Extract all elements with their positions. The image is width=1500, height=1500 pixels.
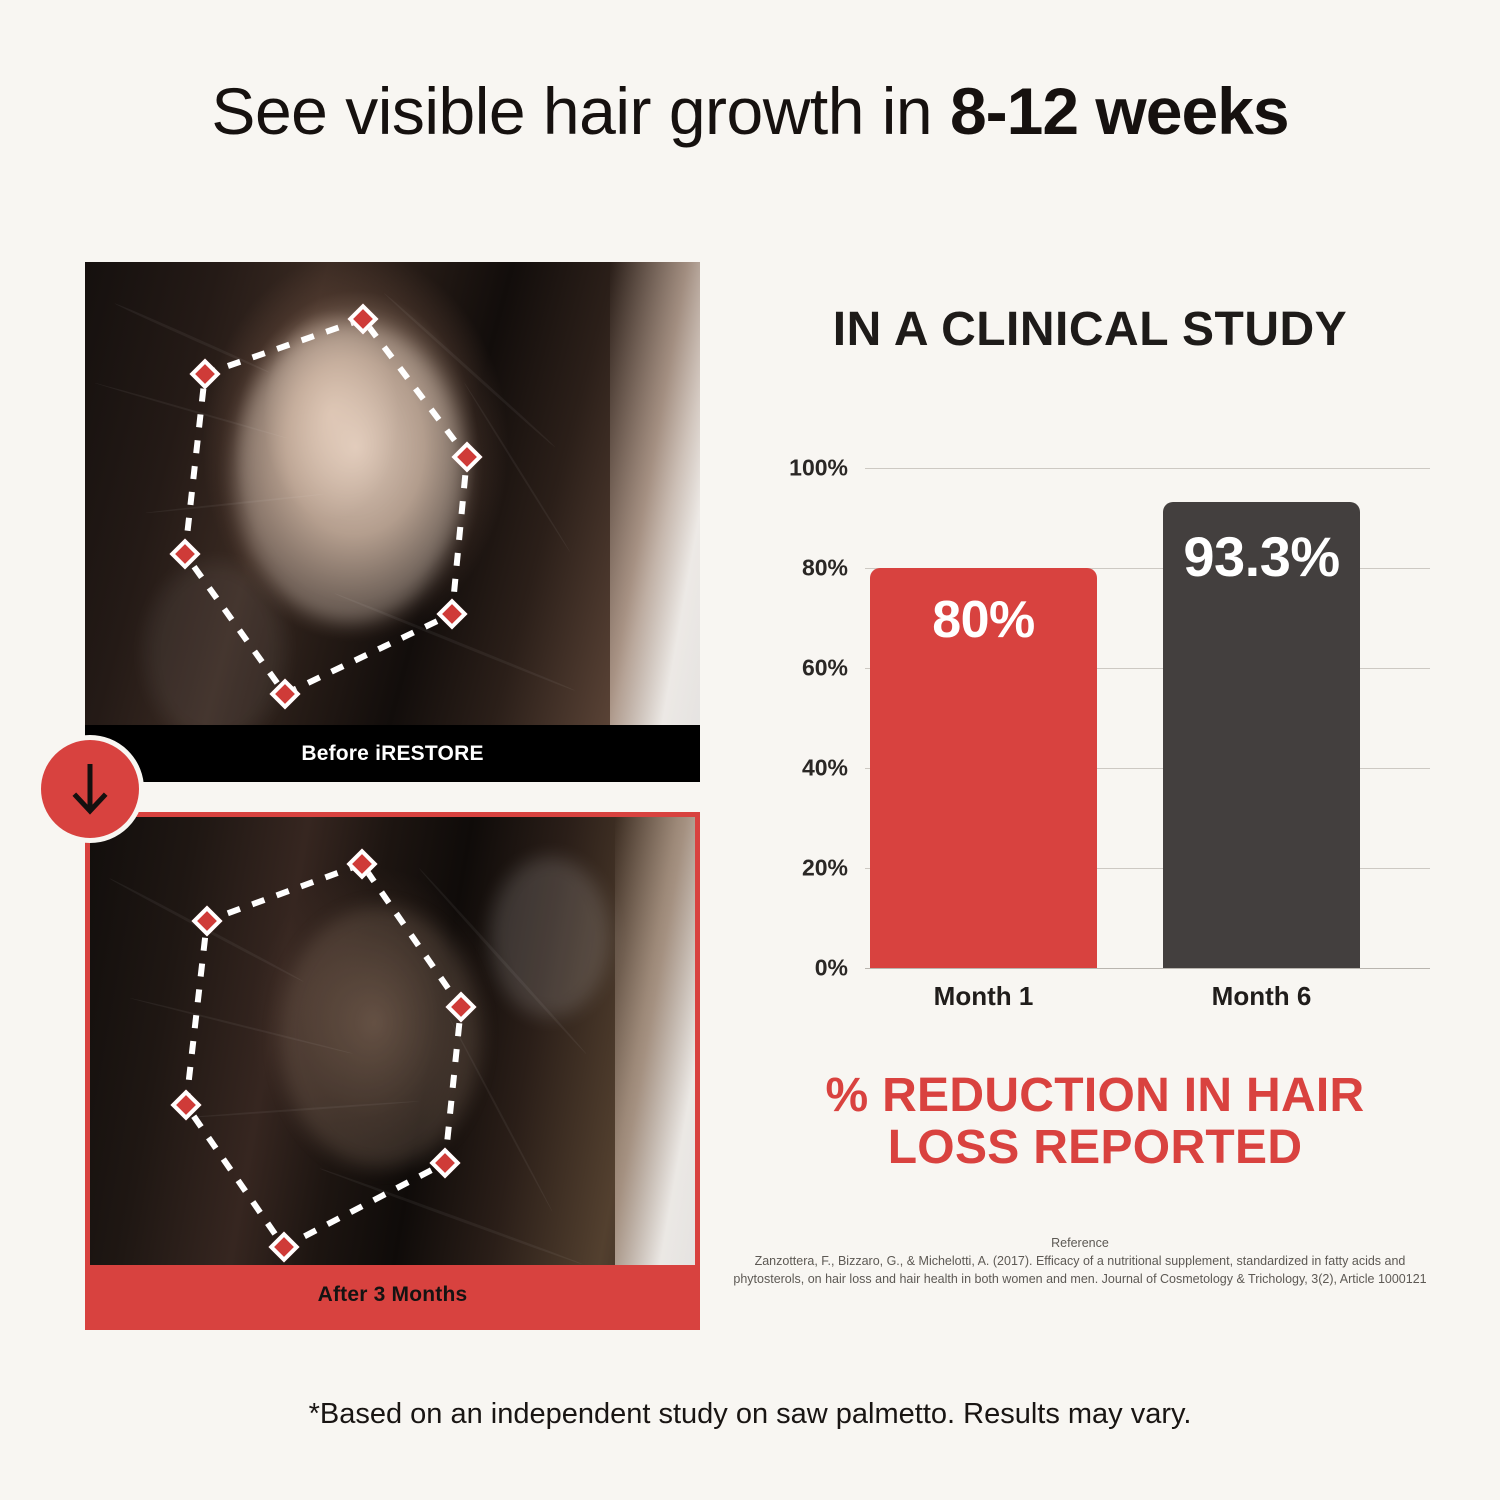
before-photo-image [85,262,700,725]
y-axis-tick-0: 0% [770,955,848,982]
arrow-down-badge [36,735,144,843]
after-photo-label: After 3 Months [90,1265,695,1325]
before-photo-card: Before iRESTORE [85,262,700,782]
reduction-claim-line-2: LOSS REPORTED [755,1122,1435,1174]
y-axis-tick-20: 20% [770,855,848,882]
photo-highlight [280,907,480,1167]
y-axis-tick-40: 40% [770,755,848,782]
bar-month-1: 80% [870,568,1097,968]
photo-skin-area [615,817,695,1265]
reduction-claim-line-1: % REDUCTION IN HAIR [755,1070,1435,1122]
bar-value-month-1: 80% [870,568,1097,650]
photo-highlight [235,322,465,622]
after-photo-card: After 3 Months [85,812,700,1330]
photo-skin-area [610,262,700,725]
photo-highlight [490,857,610,1017]
disclaimer-text: *Based on an independent study on saw pa… [0,1398,1500,1431]
reference-citation: Zanzottera, F., Bizzaro, G., & Michelott… [730,1252,1430,1288]
arrow-down-icon [67,760,113,818]
y-axis-tick-80: 80% [770,555,848,582]
after-photo-image [90,817,695,1265]
reduction-claim: % REDUCTION IN HAIR LOSS REPORTED [755,1070,1435,1174]
page-title-lead: See visible hair growth in [211,74,950,148]
gridline-100 [865,468,1430,469]
axis-baseline [865,968,1430,969]
bar-value-month-6: 93.3% [1163,502,1360,589]
reference-heading: Reference [730,1234,1430,1252]
page-title: See visible hair growth in 8-12 weeks [0,78,1500,144]
clinical-study-title: IN A CLINICAL STUDY [740,302,1440,357]
hair-loss-reduction-bar-chart: 100% 80% 60% 40% 20% 0% 80% 93.3% Month … [770,440,1430,1000]
reference-block: Reference Zanzottera, F., Bizzaro, G., &… [730,1234,1430,1288]
x-axis-label-month-1: Month 1 [870,981,1097,1012]
y-axis-tick-100: 100% [770,455,848,482]
x-axis-label-month-6: Month 6 [1163,981,1360,1012]
y-axis-tick-60: 60% [770,655,848,682]
before-after-gallery: Before iRESTORE After 3 Months [85,262,700,1330]
bar-month-6: 93.3% [1163,502,1360,968]
page-title-emphasis: 8-12 weeks [950,74,1289,148]
before-photo-label: Before iRESTORE [85,725,700,782]
